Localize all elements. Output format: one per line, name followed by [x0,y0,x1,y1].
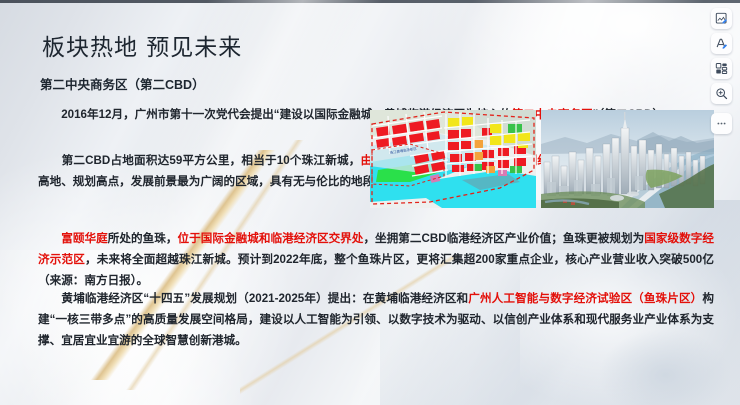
text-run: ，未来将全面超越珠江新城。预计到2022年底，整个鱼珠片区，更将汇集超200家重… [38,253,714,287]
text-edit-icon[interactable] [711,33,732,54]
text-run [38,232,61,245]
highlighted-text-run: 富颐华庭 [61,232,108,245]
text-run: 第二CBD占地面积达59平方公里，相当于10个珠江新城， [38,154,361,167]
zoning-plan-map: 珠江黄埔临港新区 [370,110,536,208]
image-edit-icon[interactable] [711,8,732,29]
page-title: 板块热地 预见未来 [42,28,242,62]
slide-canvas: 板块热地 预见未来 第二中央商务区（第二CBD） 2016年12月，广州市第十一… [0,0,740,405]
highlighted-text-run: 位于国际金融城和临港经济区交界处 [177,232,363,245]
paragraph-3: 富颐华庭所处的鱼珠，位于国际金融城和临港经济区交界处，坐拥第二CBD临港经济区产… [38,228,714,291]
cbd-skyline-render [541,110,714,208]
top-edge-rule [0,0,740,3]
text-run: 黄埔临港经济区“十四五”发展规划（2021-2025年）提出：在黄埔临港经济区和 [38,292,468,305]
paragraph-4: 黄埔临港经济区“十四五”发展规划（2021-2025年）提出：在黄埔临港经济区和… [38,288,714,351]
highlighted-text-run: 广州人工智能与数字经济试验区（鱼珠片区） [468,292,702,305]
text-run: 所处的鱼珠， [108,232,178,245]
layout-split-icon[interactable] [711,58,732,79]
text-run: ，坐拥第二CBD临港经济区产业价值；鱼珠更被规划为 [363,232,644,245]
floating-toolbar [706,8,736,134]
more-options-icon[interactable] [711,113,732,134]
zoom-in-icon[interactable] [711,83,732,104]
section-heading: 第二中央商务区（第二CBD） [40,74,205,93]
